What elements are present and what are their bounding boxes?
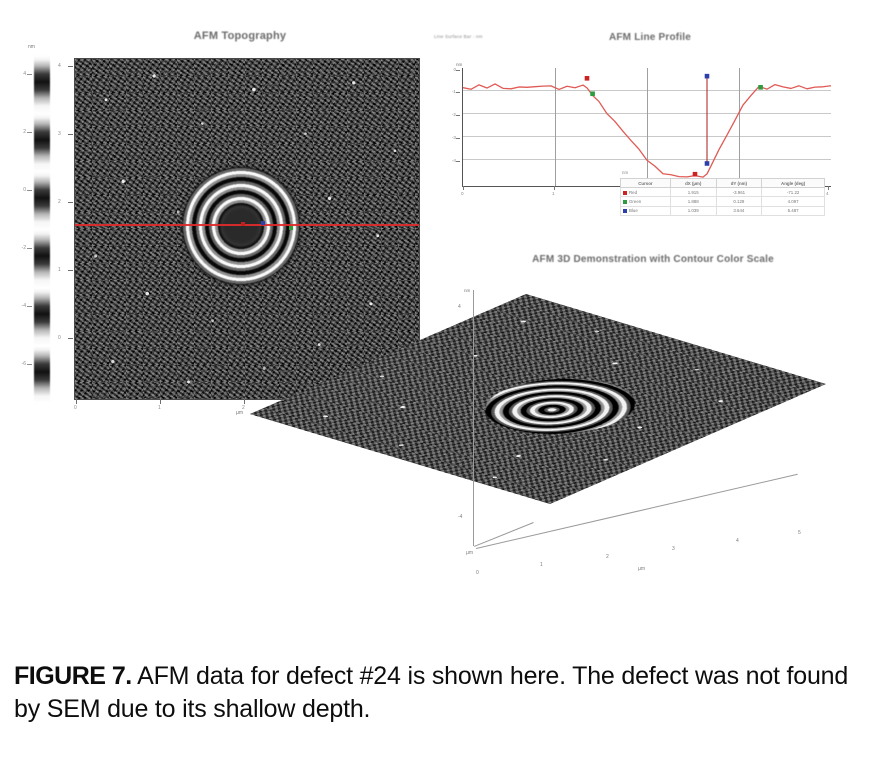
td-x-tick-2: 2: [606, 554, 609, 560]
line-profile-corner-label: Line Surface Bar : nm: [434, 34, 483, 39]
dx-cell: 1.039: [670, 206, 716, 215]
cursor-name-cell: Red: [621, 188, 671, 197]
topography-image: [74, 58, 420, 400]
topo-y-tick-1: 3: [58, 131, 61, 137]
lp-y-tick-4: -4: [446, 158, 456, 163]
topo-x-tick-1: 1: [158, 405, 161, 411]
colorbar-tick-4: -4: [18, 303, 26, 309]
colorbar-tick-1: 2: [18, 129, 26, 135]
col-cursor: Cursor: [621, 179, 671, 188]
table-header-row: Cursor dX (µm) dY (nm) Angle (deg): [621, 179, 825, 188]
line-profile-title: AFM Line Profile: [570, 32, 730, 43]
cursor-name-cell: Green: [621, 197, 671, 206]
topo-y-tick-4: 0: [58, 335, 61, 341]
afm-topography-panel: AFM Topography nm 4 2 0 -2 -4 -6 4 3: [0, 14, 430, 404]
topo-x-tick-0: 0: [74, 405, 77, 411]
figure-caption-label: FIGURE 7.: [14, 662, 132, 690]
td-z-tick-4: -4: [458, 514, 462, 520]
surface-3d-plot: 4 2 0 -2 -4 µm 0 1 2 3 4 5 µm: [430, 282, 882, 632]
surface-3d-title: AFM 3D Demonstration with Contour Color …: [468, 254, 838, 265]
dy-cell: 0.129: [716, 197, 762, 206]
table-row: Green1.8880.1294.097: [621, 197, 825, 206]
td-x-label: µm: [638, 566, 645, 572]
profile-marker-blue-top: [705, 74, 710, 79]
line-profile-trace: [463, 68, 831, 186]
profile-scan-line: [75, 224, 419, 226]
table-row: Red1.915-3.961-71.22: [621, 188, 825, 197]
td-x-tick-5: 5: [798, 530, 801, 536]
afm-3d-panel: AFM 3D Demonstration with Contour Color …: [430, 252, 882, 632]
dy-cell: -3.961: [716, 188, 762, 197]
colorbar-tick-0: 4: [18, 71, 26, 77]
dx-cell: 1.888: [670, 197, 716, 206]
col-dy: dY (nm): [716, 179, 762, 188]
topography-colorbar: [34, 56, 50, 401]
cursor-table-unit-label: nm: [622, 170, 628, 175]
lp-x-tick-0: 0: [461, 191, 464, 196]
topography-x-axis-label: µm: [236, 410, 243, 416]
lp-y-tick-2: -2: [446, 112, 456, 117]
td-x-tick-4: 4: [736, 538, 739, 544]
red-cursor-marker: [241, 222, 245, 226]
lp-y-tick-0: 0: [446, 67, 456, 72]
colorbar-unit-label: nm: [28, 44, 35, 50]
topo-y-tick-3: 1: [58, 267, 61, 273]
topo-y-tick-0: 4: [58, 63, 61, 69]
profile-marker-green-right: [758, 85, 763, 90]
figure-image: AFM Topography nm 4 2 0 -2 -4 -6 4 3: [0, 0, 882, 640]
figure-caption: FIGURE 7. AFM data for defect #24 is sho…: [14, 660, 866, 725]
line-profile-plot: [462, 68, 831, 187]
surface-3d-defect-rings: [454, 368, 665, 445]
dx-cell: 1.915: [670, 188, 716, 197]
td-x-tick-1: 1: [540, 562, 543, 568]
td-x-tick-0: 0: [476, 570, 479, 576]
td-z-tick-3: -2: [458, 458, 462, 464]
td-y-label: µm: [466, 550, 473, 556]
angle-cell: -71.22: [762, 188, 825, 197]
dy-cell: 3.644: [716, 206, 762, 215]
blue-cursor-marker: [261, 221, 265, 225]
profile-marker-blue-bottom: [705, 161, 710, 166]
angle-cell: 5.487: [762, 206, 825, 215]
profile-line: [463, 84, 831, 177]
color-swatch-icon: [623, 209, 627, 213]
afm-line-profile-panel: AFM Line Profile Line Surface Bar : nm n…: [430, 28, 840, 253]
profile-marker-red-left: [585, 76, 590, 81]
col-angle: Angle (deg): [762, 179, 825, 188]
line-profile-y-unit: nm: [456, 62, 462, 67]
figure-caption-text: AFM data for defect #24 is shown here. T…: [14, 662, 848, 723]
table-row: Blue1.0393.6445.487: [621, 206, 825, 215]
profile-marker-red-bottom: [693, 172, 698, 177]
colorbar-tick-5: -6: [18, 361, 26, 367]
col-dx: dX (µm): [670, 179, 716, 188]
lp-x-tick-1: 1: [552, 191, 555, 196]
angle-cell: 4.097: [762, 197, 825, 206]
td-z-tick-1: 2: [458, 350, 461, 356]
lp-x-tick-4: 4: [826, 191, 829, 196]
topo-y-tick-2: 2: [58, 199, 61, 205]
td-z-tick-2: 0: [458, 402, 461, 408]
td-z-tick-0: 4: [458, 304, 461, 310]
color-swatch-icon: [623, 200, 627, 204]
profile-marker-green-left: [590, 91, 595, 96]
td-x-tick-3: 3: [672, 546, 675, 552]
defect-core: [220, 205, 262, 247]
cursor-measurement-table: Cursor dX (µm) dY (nm) Angle (deg) Red1.…: [620, 178, 825, 216]
colorbar-tick-3: -2: [18, 245, 26, 251]
lp-y-tick-3: -3: [446, 135, 456, 140]
green-cursor-marker: [289, 226, 293, 230]
topography-title: AFM Topography: [150, 30, 330, 42]
cursor-name-cell: Blue: [621, 206, 671, 215]
lp-y-tick-1: -1: [446, 89, 456, 94]
colorbar-tick-2: 0: [18, 187, 26, 193]
color-swatch-icon: [623, 191, 627, 195]
